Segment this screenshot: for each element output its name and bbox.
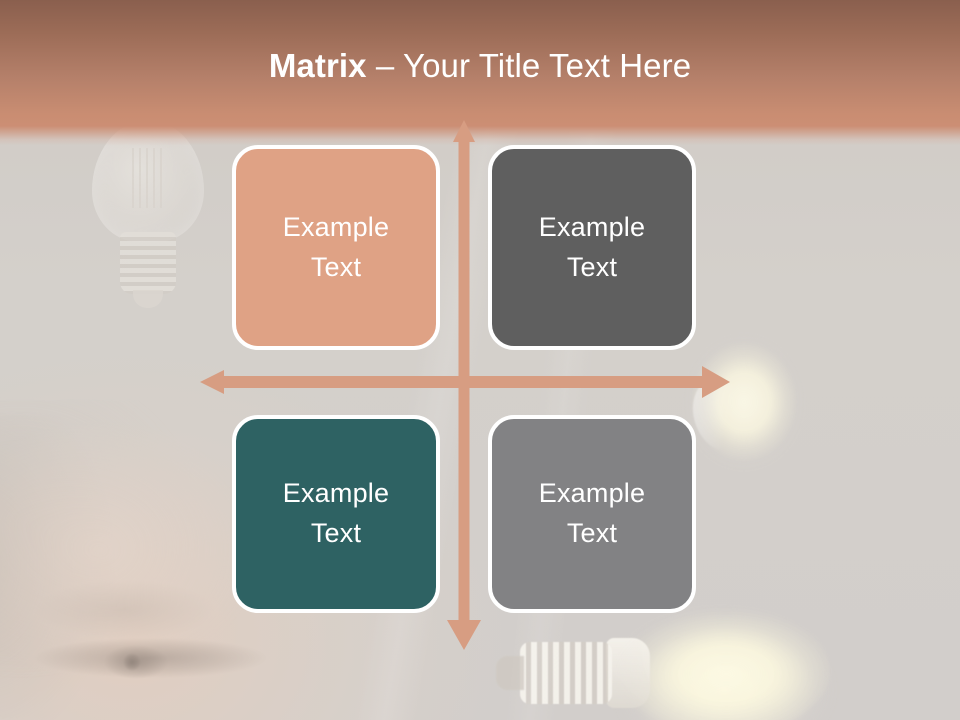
- slide-canvas: Matrix – Your Title Text Here ExampleTex…: [0, 0, 960, 720]
- quadrant-top-left[interactable]: ExampleText: [232, 145, 440, 350]
- quadrant-top-right-label: ExampleText: [539, 207, 645, 289]
- quadrant-bottom-right-label: ExampleText: [539, 473, 645, 555]
- arrow-right-icon: [702, 366, 730, 398]
- quadrant-cross-arrows: [0, 0, 960, 720]
- quadrant-bottom-left[interactable]: ExampleText: [232, 415, 440, 613]
- quadrant-top-left-line2: Text: [311, 252, 361, 282]
- quadrant-bottom-left-line1: Example: [283, 478, 389, 508]
- quadrant-bottom-right-line2: Text: [567, 518, 617, 548]
- quadrant-bottom-right[interactable]: ExampleText: [488, 415, 696, 613]
- quadrant-bottom-right-line1: Example: [539, 478, 645, 508]
- quadrant-bottom-left-line2: Text: [311, 518, 361, 548]
- quadrant-top-right[interactable]: ExampleText: [488, 145, 696, 350]
- quadrant-top-right-line2: Text: [567, 252, 617, 282]
- quadrant-bottom-left-label: ExampleText: [283, 473, 389, 555]
- quadrant-top-left-label: ExampleText: [283, 207, 389, 289]
- quadrant-top-left-line1: Example: [283, 212, 389, 242]
- arrow-down-icon: [447, 620, 481, 650]
- arrow-up-icon: [453, 120, 475, 620]
- arrow-left-icon: [200, 370, 712, 394]
- quadrant-top-right-line1: Example: [539, 212, 645, 242]
